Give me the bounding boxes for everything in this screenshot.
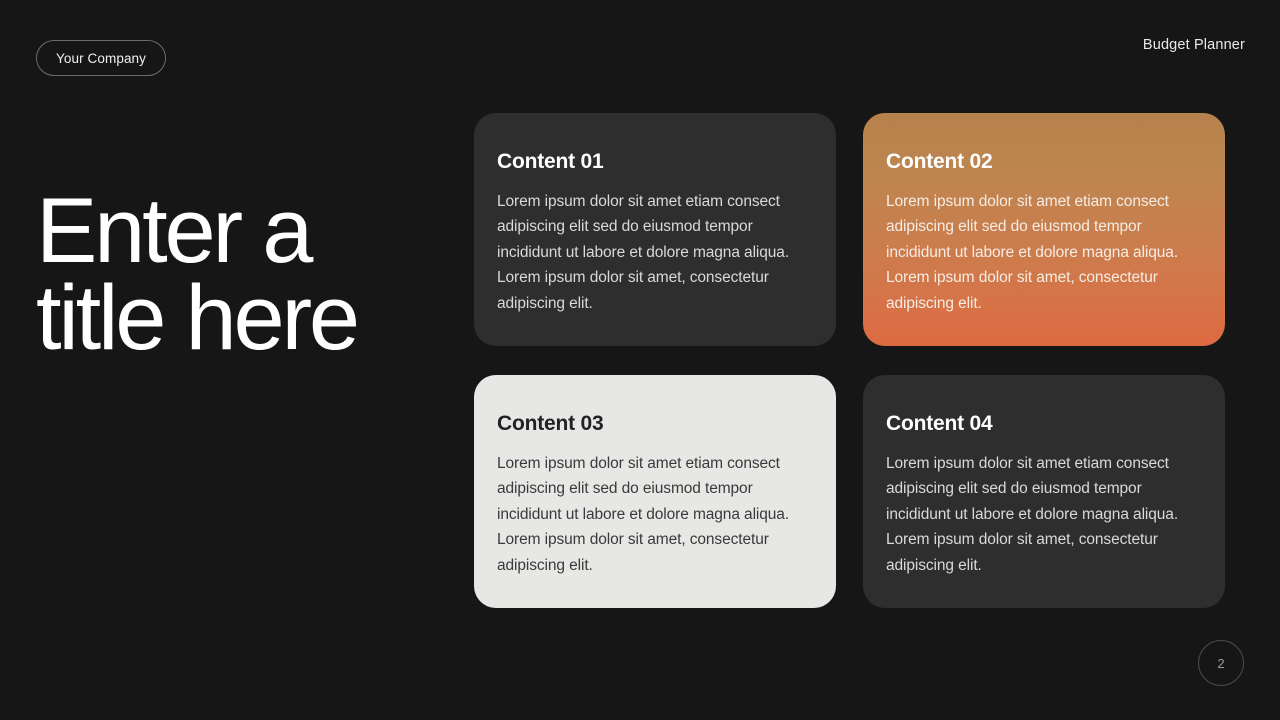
content-card-04[interactable]: Content 04 Lorem ipsum dolor sit amet et… [863, 375, 1225, 608]
content-card-03-body: Lorem ipsum dolor sit amet etiam consect… [497, 451, 806, 578]
content-card-01-body: Lorem ipsum dolor sit amet etiam consect… [497, 189, 806, 316]
content-card-03-title: Content 03 [497, 412, 806, 436]
content-card-02-title: Content 02 [886, 150, 1195, 174]
content-card-04-title: Content 04 [886, 412, 1195, 436]
page-title: Enter a title here [36, 188, 416, 363]
content-card-04-body: Lorem ipsum dolor sit amet etiam consect… [886, 451, 1195, 578]
brand-label: Your Company [56, 51, 146, 66]
content-card-03[interactable]: Content 03 Lorem ipsum dolor sit amet et… [474, 375, 836, 608]
content-card-01-title: Content 01 [497, 150, 806, 174]
page-number-badge: 2 [1198, 640, 1244, 686]
brand-pill[interactable]: Your Company [36, 40, 166, 76]
content-card-grid: Content 01 Lorem ipsum dolor sit amet et… [474, 113, 1225, 608]
slide: Your Company Budget Planner Enter a titl… [0, 0, 1280, 720]
page-number-label: 2 [1217, 656, 1224, 671]
deck-label: Budget Planner [1143, 37, 1245, 53]
content-card-01[interactable]: Content 01 Lorem ipsum dolor sit amet et… [474, 113, 836, 346]
content-card-02-body: Lorem ipsum dolor sit amet etiam consect… [886, 189, 1195, 316]
content-card-02[interactable]: Content 02 Lorem ipsum dolor sit amet et… [863, 113, 1225, 346]
